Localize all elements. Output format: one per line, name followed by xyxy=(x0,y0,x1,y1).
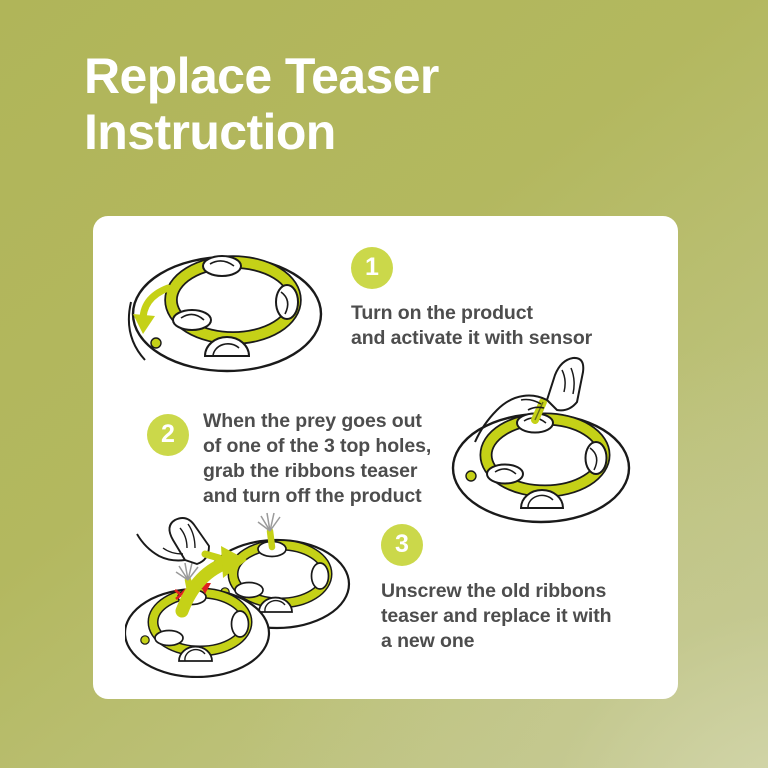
step-1-text: Turn on the product and activate it with… xyxy=(351,301,651,351)
step-3-illustration xyxy=(125,498,365,678)
page-title: Replace Teaser Instruction xyxy=(84,48,684,160)
step-2-text: When the prey goes out of one of the 3 t… xyxy=(203,409,463,509)
poster-canvas: Replace Teaser Instruction 1 Turn on the… xyxy=(0,0,768,768)
page-title-line-1: Replace Teaser xyxy=(84,48,684,104)
step-2-number-badge: 2 xyxy=(147,414,189,456)
sensor-dot xyxy=(151,338,161,348)
step-1-number-badge: 1 xyxy=(351,247,393,289)
instructions-card: 1 Turn on the product and activate it wi… xyxy=(93,216,678,699)
step-3-number-badge: 3 xyxy=(381,524,423,566)
hand xyxy=(137,518,209,564)
new-teaser-in-hand xyxy=(205,554,219,558)
page-title-line-2: Instruction xyxy=(84,104,684,160)
step-3-text: Unscrew the old ribbons teaser and repla… xyxy=(381,579,671,654)
step-1-illustration xyxy=(115,240,335,380)
sensor-dot xyxy=(466,471,476,481)
step-2-illustration xyxy=(431,348,646,538)
